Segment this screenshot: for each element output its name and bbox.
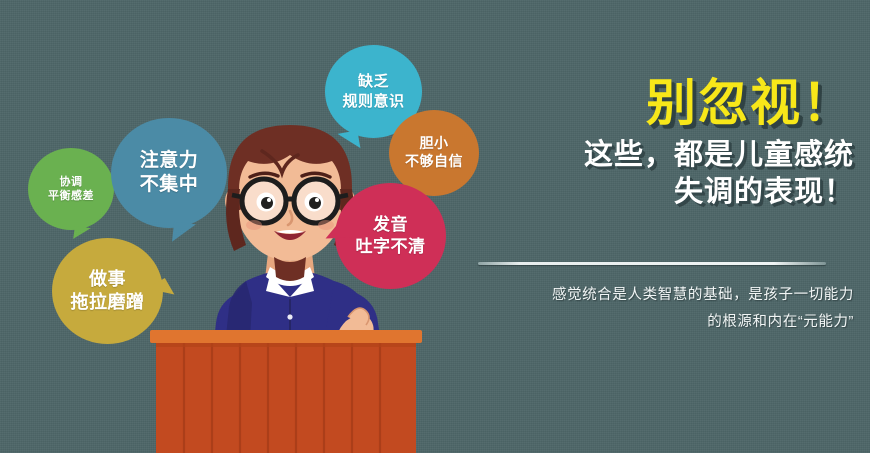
tagline-line-1: 感觉统合是人类智慧的基础，是孩子一切能力 (440, 282, 860, 309)
bubble-tail (73, 226, 91, 241)
bubble-line: 缺乏 (342, 72, 404, 91)
headline-block: 别忽视！ 这些，都是儿童感统 失调的表现！ (460, 78, 860, 210)
subtitle-line-2: 失调的表现！ (460, 174, 860, 211)
bubble-line: 规则意识 (342, 92, 404, 111)
bubble-line: 发音 (356, 214, 426, 236)
bubble-line: 做事 (71, 268, 145, 291)
tagline-block: 感觉统合是人类智慧的基础，是孩子一切能力 的根源和内在“元能力” (440, 282, 860, 336)
bubble-coordination[interactable]: 协调 平衡感差 (28, 148, 114, 230)
bubble-line: 不够自信 (405, 153, 463, 171)
bubble-line: 不集中 (140, 173, 199, 197)
bubble-line: 吐字不清 (356, 236, 426, 258)
headline: 别忽视！ (460, 78, 860, 129)
bubble-line: 胆小 (405, 135, 463, 153)
banner-root: 协调 平衡感差 注意力 不集中 缺乏 规则意识 胆小 不够自信 发音 吐字不清 (0, 0, 870, 453)
subtitle-line-1: 这些，都是儿童感统 (460, 137, 860, 174)
bubble-line: 注意力 (140, 149, 199, 173)
bubble-line: 拖拉磨蹭 (71, 291, 145, 314)
bubble-tail (338, 130, 361, 151)
bubble-procrastination[interactable]: 做事 拖拉磨蹭 (52, 238, 163, 344)
bubble-line: 协调 (48, 175, 94, 189)
divider (478, 262, 826, 265)
bubble-attention[interactable]: 注意力 不集中 (111, 118, 227, 228)
tagline-line-2: 的根源和内在“元能力” (440, 309, 860, 336)
podium (150, 330, 422, 453)
bubble-tail (172, 222, 196, 244)
bubble-pronunciation[interactable]: 发音 吐字不清 (335, 183, 446, 289)
bubble-line: 平衡感差 (48, 189, 94, 203)
